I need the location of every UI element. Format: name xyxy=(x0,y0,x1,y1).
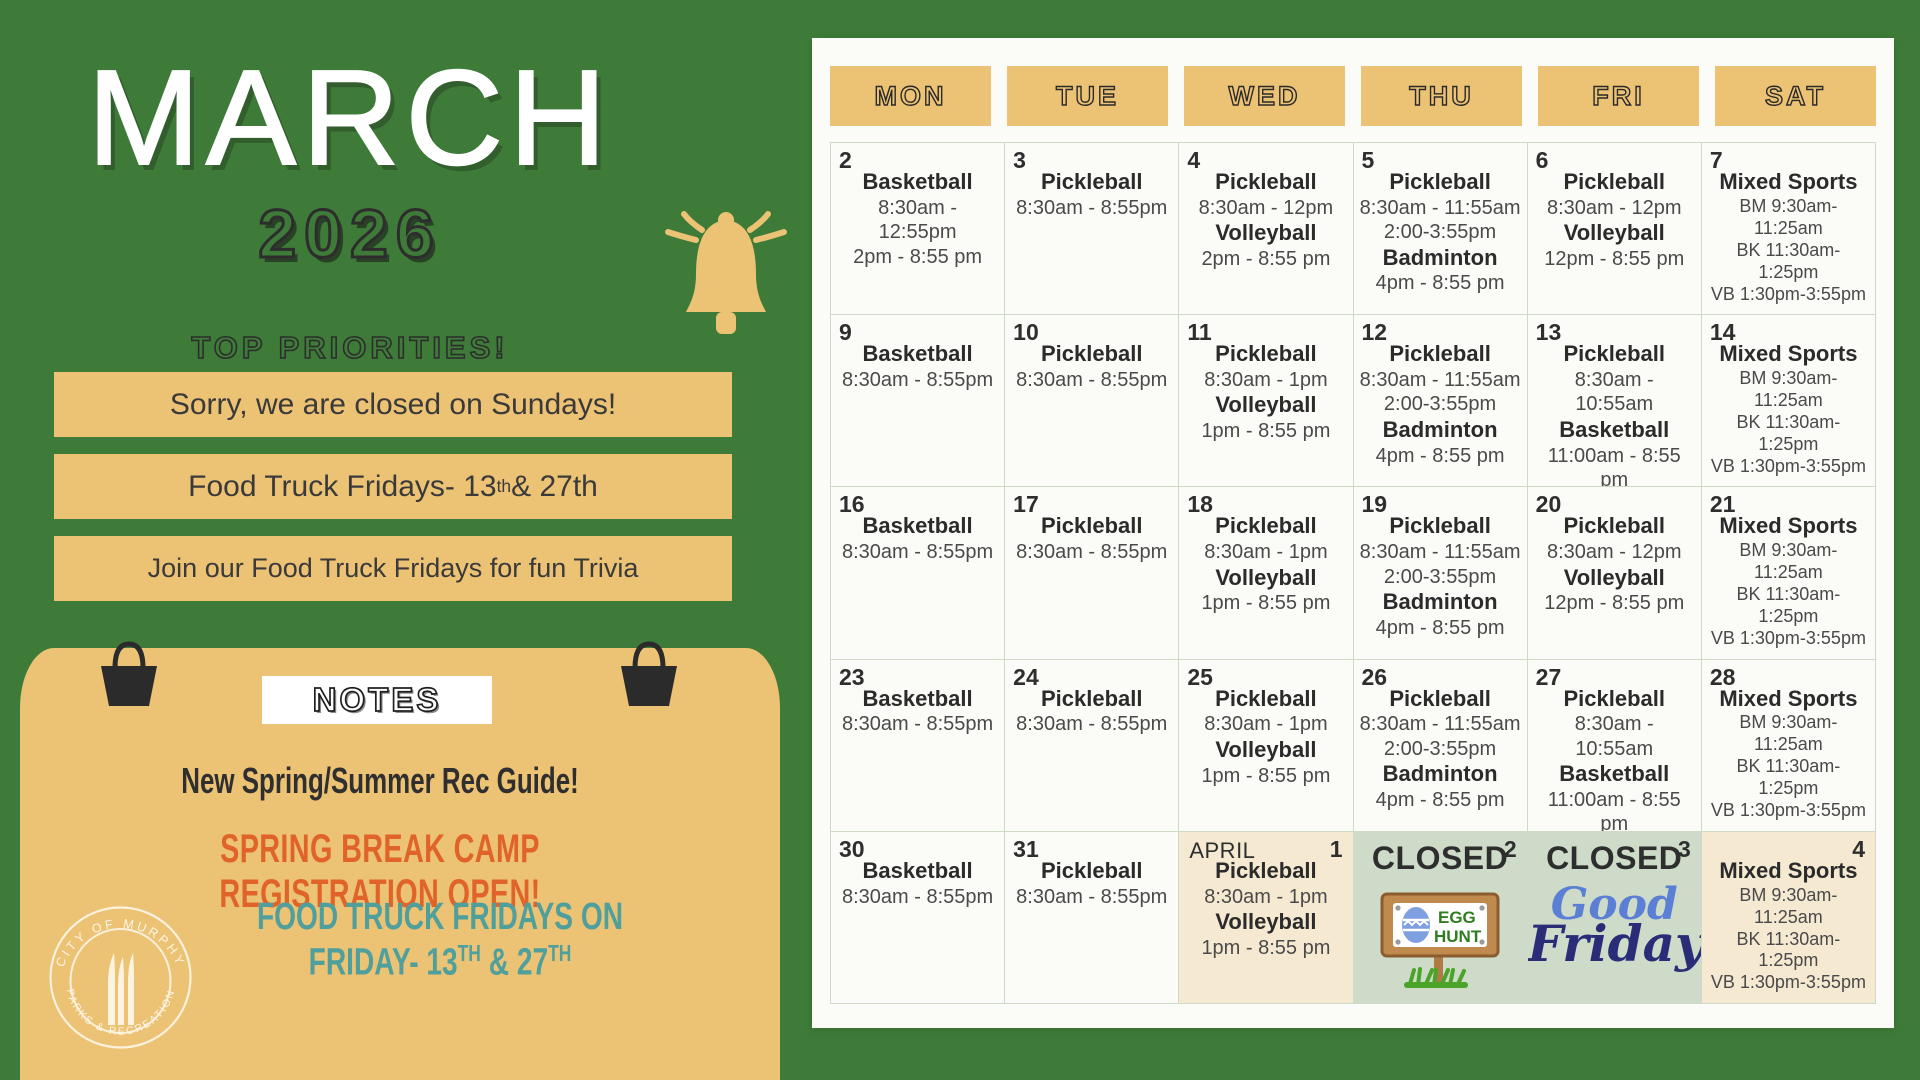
priority-item-3: Join our Food Truck Fridays for fun Triv… xyxy=(54,536,732,601)
day-number: 18 xyxy=(1187,493,1213,516)
event-time: 1pm - 8:55 pm xyxy=(1185,591,1346,615)
day-number: 27 xyxy=(1536,666,1562,689)
event-time: 4pm - 8:55 pm xyxy=(1360,271,1521,295)
event-title: Basketball xyxy=(1534,417,1695,444)
day-number: 1 xyxy=(1330,838,1343,861)
notes-title: NOTES xyxy=(262,676,492,724)
event-title: Pickleball xyxy=(1011,169,1172,196)
event-title: Pickleball xyxy=(1534,341,1695,368)
day-number: 28 xyxy=(1710,666,1736,689)
event-title: Basketball xyxy=(837,858,998,885)
event-time: 1pm - 8:55 pm xyxy=(1185,764,1346,788)
day-events: Pickleball8:30am - 11:55am2:00-3:55pmBad… xyxy=(1360,686,1521,813)
day-cell-4[interactable]: 4Mixed SportsBM 9:30am-11:25amBK 11:30am… xyxy=(1702,832,1876,1004)
closed-label: CLOSED xyxy=(1354,840,1527,877)
event-title: Pickleball xyxy=(1360,513,1521,540)
priority-item-3-text: Join our Food Truck Fridays for fun Triv… xyxy=(148,553,639,584)
event-time: 8:30am - 8:55pm xyxy=(837,368,998,392)
day-events: Pickleball8:30am - 10:55amBasketball11:0… xyxy=(1534,341,1695,487)
event-title: Mixed Sports xyxy=(1708,858,1869,885)
event-time: BK 11:30am-1:25pm xyxy=(1708,412,1869,456)
event-time: 2:00-3:55pm xyxy=(1360,220,1521,244)
event-time: 8:30am - 10:55am xyxy=(1534,368,1695,417)
day-cell-31[interactable]: 31Pickleball8:30am - 8:55pm xyxy=(1005,832,1179,1004)
event-time: BK 11:30am-1:25pm xyxy=(1708,929,1869,973)
day-cell-28[interactable]: 28Mixed SportsBM 9:30am-11:25amBK 11:30a… xyxy=(1702,660,1876,832)
day-cell-20[interactable]: 20Pickleball8:30am - 12pmVolleyball12pm … xyxy=(1528,487,1702,659)
event-title: Pickleball xyxy=(1011,513,1172,540)
day-events: Basketball8:30am - 8:55pm xyxy=(837,513,998,564)
day-events: Pickleball8:30am - 1pmVolleyball1pm - 8:… xyxy=(1185,513,1346,615)
top-priorities-label: TOP PRIORITIES! xyxy=(0,330,700,366)
event-title: Pickleball xyxy=(1360,341,1521,368)
event-time: 8:30am - 1pm xyxy=(1185,540,1346,564)
day-number: 7 xyxy=(1710,149,1723,172)
day-cell-2[interactable]: 2Basketball8:30am - 12:55pm2pm - 8:55 pm xyxy=(831,143,1005,315)
event-time: 4pm - 8:55 pm xyxy=(1360,444,1521,468)
event-time: 2pm - 8:55 pm xyxy=(1185,247,1346,271)
day-events: Pickleball8:30am - 11:55am2:00-3:55pmBad… xyxy=(1360,169,1521,296)
day-number: 9 xyxy=(839,321,852,344)
note-ftf-line2b: & 27 xyxy=(481,941,548,983)
event-time: 1pm - 8:55 pm xyxy=(1185,936,1346,960)
day-cell-1[interactable]: APRIL1Pickleball8:30am - 1pmVolleyball1p… xyxy=(1179,832,1353,1004)
event-title: Basketball xyxy=(837,686,998,713)
event-title: Mixed Sports xyxy=(1708,686,1869,713)
binder-clip-icon xyxy=(85,638,173,710)
day-number: 19 xyxy=(1362,493,1388,516)
event-title: Badminton xyxy=(1360,589,1521,616)
day-cell-7[interactable]: 7Mixed SportsBM 9:30am-11:25amBK 11:30am… xyxy=(1702,143,1876,315)
event-time: 8:30am - 1pm xyxy=(1185,885,1346,909)
day-number: 4 xyxy=(1852,838,1865,861)
day-cell-6[interactable]: 6Pickleball8:30am - 12pmVolleyball12pm -… xyxy=(1528,143,1702,315)
event-title: Basketball xyxy=(837,513,998,540)
egg-hunt-sign-icon: EGG HUNT xyxy=(1376,884,1504,996)
svg-text:HUNT: HUNT xyxy=(1434,927,1482,946)
day-cell-2[interactable]: 2CLOSED EGG HUNT xyxy=(1354,832,1528,1004)
left-info-panel: MARCH 2026 TOP PRIORITIES! Sorry, we are… xyxy=(0,0,810,1080)
day-events: Pickleball8:30am - 1pmVolleyball1pm - 8:… xyxy=(1185,341,1346,443)
event-time: VB 1:30pm-3:55pm xyxy=(1708,800,1869,822)
priority-item-2-sup: th xyxy=(497,476,512,497)
event-title: Mixed Sports xyxy=(1708,513,1869,540)
event-time: 1pm - 8:55 pm xyxy=(1185,419,1346,443)
day-number: 12 xyxy=(1362,321,1388,344)
day-events: Pickleball8:30am - 8:55pm xyxy=(1011,513,1172,564)
event-title: Pickleball xyxy=(1011,858,1172,885)
event-time: VB 1:30pm-3:55pm xyxy=(1708,456,1869,478)
event-time: 8:30am - 8:55pm xyxy=(837,712,998,736)
event-title: Badminton xyxy=(1360,761,1521,788)
event-time: BK 11:30am-1:25pm xyxy=(1708,240,1869,284)
day-cell-11[interactable]: 11Pickleball8:30am - 1pmVolleyball1pm - … xyxy=(1179,315,1353,487)
day-events: Pickleball8:30am - 8:55pm xyxy=(1011,169,1172,220)
priority-item-1-text: Sorry, we are closed on Sundays! xyxy=(170,388,616,422)
event-time: 8:30am - 10:55am xyxy=(1534,712,1695,761)
day-number: 16 xyxy=(839,493,865,516)
calendar-grid: 2Basketball8:30am - 12:55pm2pm - 8:55 pm… xyxy=(830,142,1876,1004)
event-time: 8:30am - 12pm xyxy=(1534,196,1695,220)
svg-text:EGG: EGG xyxy=(1438,908,1476,927)
event-time: 4pm - 8:55 pm xyxy=(1360,616,1521,640)
day-header-mon: MON xyxy=(830,66,991,126)
day-cell-9[interactable]: 9Basketball8:30am - 8:55pm xyxy=(831,315,1005,487)
event-time: BM 9:30am-11:25am xyxy=(1708,540,1869,584)
day-number: 26 xyxy=(1362,666,1388,689)
day-cell-4[interactable]: 4Pickleball8:30am - 12pmVolleyball2pm - … xyxy=(1179,143,1353,315)
note-ftf-line2a: FRIDAY- 13 xyxy=(309,941,458,983)
event-title: Volleyball xyxy=(1534,565,1695,592)
day-events: Pickleball8:30am - 12pmVolleyball12pm - … xyxy=(1534,513,1695,615)
day-number: 25 xyxy=(1187,666,1213,689)
day-events: Basketball8:30am - 8:55pm xyxy=(837,686,998,737)
day-of-week-header-row: MONTUEWEDTHUFRISAT xyxy=(830,66,1876,126)
event-time: VB 1:30pm-3:55pm xyxy=(1708,972,1869,994)
city-of-murphy-parks-recreation-logo: CITY OF MURPHY PARKS & RECREATION xyxy=(38,895,203,1060)
day-header-fri: FRI xyxy=(1538,66,1699,126)
day-number: 17 xyxy=(1013,493,1039,516)
event-title: Volleyball xyxy=(1185,909,1346,936)
event-title: Pickleball xyxy=(1185,513,1346,540)
day-number: 4 xyxy=(1187,149,1200,172)
day-cell-5[interactable]: 5Pickleball8:30am - 11:55am2:00-3:55pmBa… xyxy=(1354,143,1528,315)
event-time: BM 9:30am-11:25am xyxy=(1708,885,1869,929)
day-number: 2 xyxy=(839,149,852,172)
priority-item-2-suffix: & 27th xyxy=(511,470,598,504)
day-events: Pickleball8:30am - 8:55pm xyxy=(1011,858,1172,909)
event-time: 4pm - 8:55 pm xyxy=(1360,788,1521,812)
day-events: Pickleball8:30am - 8:55pm xyxy=(1011,341,1172,392)
bell-icon xyxy=(650,200,795,340)
event-time: 2:00-3:55pm xyxy=(1360,392,1521,416)
event-title: Pickleball xyxy=(1534,169,1695,196)
event-time: VB 1:30pm-3:55pm xyxy=(1708,628,1869,650)
closed-label: CLOSED xyxy=(1528,840,1701,877)
day-header-sat: SAT xyxy=(1715,66,1876,126)
event-time: 8:30am - 8:55pm xyxy=(837,540,998,564)
event-time: 8:30am - 8:55pm xyxy=(1011,196,1172,220)
event-time: 8:30am - 11:55am xyxy=(1360,196,1521,220)
day-events: Mixed SportsBM 9:30am-11:25amBK 11:30am-… xyxy=(1708,169,1869,306)
day-cell-13[interactable]: 13Pickleball8:30am - 10:55amBasketball11… xyxy=(1528,315,1702,487)
day-events: Basketball8:30am - 12:55pm2pm - 8:55 pm xyxy=(837,169,998,269)
priority-item-1: Sorry, we are closed on Sundays! xyxy=(54,372,732,437)
day-events: Pickleball8:30am - 8:55pm xyxy=(1011,686,1172,737)
page-title-month: MARCH xyxy=(0,50,700,185)
event-title: Badminton xyxy=(1360,245,1521,272)
day-cell-18[interactable]: 18Pickleball8:30am - 1pmVolleyball1pm - … xyxy=(1179,487,1353,659)
day-cell-26[interactable]: 26Pickleball8:30am - 11:55am2:00-3:55pmB… xyxy=(1354,660,1528,832)
day-cell-3[interactable]: 3Pickleball8:30am - 8:55pm xyxy=(1005,143,1179,315)
event-time: 2:00-3:55pm xyxy=(1360,737,1521,761)
event-time: 8:30am - 8:55pm xyxy=(1011,540,1172,564)
event-time: 12pm - 8:55 pm xyxy=(1534,591,1695,615)
event-title: Volleyball xyxy=(1185,220,1346,247)
event-title: Pickleball xyxy=(1534,686,1695,713)
event-time: 8:30am - 12pm xyxy=(1534,540,1695,564)
day-events: Mixed SportsBM 9:30am-11:25amBK 11:30am-… xyxy=(1708,341,1869,478)
event-title: Pickleball xyxy=(1011,686,1172,713)
day-cell-16[interactable]: 16Basketball8:30am - 8:55pm xyxy=(831,487,1005,659)
page-title-year: 2026 xyxy=(0,200,700,268)
day-cell-3[interactable]: 3CLOSEDGoodFriday xyxy=(1528,832,1702,1004)
day-events: Mixed SportsBM 9:30am-11:25amBK 11:30am-… xyxy=(1708,686,1869,823)
day-number: 5 xyxy=(1362,149,1375,172)
event-time: 8:30am - 8:55pm xyxy=(837,885,998,909)
month-label-april: APRIL xyxy=(1189,838,1255,864)
event-time: 2:00-3:55pm xyxy=(1360,565,1521,589)
day-events: Basketball8:30am - 8:55pm xyxy=(837,858,998,909)
event-title: Mixed Sports xyxy=(1708,169,1869,196)
event-time: 8:30am - 11:55am xyxy=(1360,712,1521,736)
day-cell-30[interactable]: 30Basketball8:30am - 8:55pm xyxy=(831,832,1005,1004)
day-cell-24[interactable]: 24Pickleball8:30am - 8:55pm xyxy=(1005,660,1179,832)
event-title: Pickleball xyxy=(1534,513,1695,540)
day-cell-27[interactable]: 27Pickleball8:30am - 10:55amBasketball11… xyxy=(1528,660,1702,832)
event-title: Volleyball xyxy=(1185,737,1346,764)
event-time: VB 1:30pm-3:55pm xyxy=(1708,284,1869,306)
event-time: 8:30am - 12:55pm xyxy=(837,196,998,245)
day-events: Mixed SportsBM 9:30am-11:25amBK 11:30am-… xyxy=(1708,513,1869,650)
event-title: Basketball xyxy=(837,341,998,368)
event-time: 8:30am - 1pm xyxy=(1185,712,1346,736)
event-title: Volleyball xyxy=(1185,565,1346,592)
note-rec-guide: New Spring/Summer Rec Guide! xyxy=(128,760,632,802)
event-time: BM 9:30am-11:25am xyxy=(1708,196,1869,240)
event-time: BK 11:30am-1:25pm xyxy=(1708,584,1869,628)
note-ftf-sup1: TH xyxy=(458,940,481,966)
calendar-card: MONTUEWEDTHUFRISAT 2Basketball8:30am - 1… xyxy=(812,38,1894,1028)
day-number: 24 xyxy=(1013,666,1039,689)
event-title: Pickleball xyxy=(1360,169,1521,196)
day-number: 31 xyxy=(1013,838,1039,861)
note-ftf-line1: FOOD TRUCK FRIDAYS ON xyxy=(257,896,623,938)
event-time: 2pm - 8:55 pm xyxy=(837,245,998,269)
event-time: 8:30am - 12pm xyxy=(1185,196,1346,220)
event-time: 8:30am - 1pm xyxy=(1185,368,1346,392)
event-title: Badminton xyxy=(1360,417,1521,444)
event-time: 8:30am - 11:55am xyxy=(1360,368,1521,392)
event-time: BM 9:30am-11:25am xyxy=(1708,368,1869,412)
day-number: 13 xyxy=(1536,321,1562,344)
event-time: 8:30am - 11:55am xyxy=(1360,540,1521,564)
note-food-truck-fridays: FOOD TRUCK FRIDAYS ON FRIDAY- 13TH & 27T… xyxy=(218,895,662,985)
day-number: 11 xyxy=(1187,321,1211,344)
day-events: Pickleball8:30am - 10:55amBasketball11:0… xyxy=(1534,686,1695,832)
priority-item-2-prefix: Food Truck Fridays- 13 xyxy=(188,470,496,504)
event-time: 11:00am - 8:55 pm xyxy=(1534,444,1695,488)
event-title: Pickleball xyxy=(1360,686,1521,713)
day-cell-25[interactable]: 25Pickleball8:30am - 1pmVolleyball1pm - … xyxy=(1179,660,1353,832)
day-events: Pickleball8:30am - 11:55am2:00-3:55pmBad… xyxy=(1360,513,1521,640)
good-friday-graphic: GoodFriday xyxy=(1528,886,1701,966)
event-title: Basketball xyxy=(837,169,998,196)
event-title: Pickleball xyxy=(1011,341,1172,368)
day-events: Basketball8:30am - 8:55pm xyxy=(837,341,998,392)
binder-clip-icon xyxy=(605,638,693,710)
good-friday-line-2: Friday xyxy=(1528,923,1701,966)
event-title: Pickleball xyxy=(1185,341,1346,368)
day-number: 23 xyxy=(839,666,865,689)
day-number: 3 xyxy=(1013,149,1026,172)
day-events: Pickleball8:30am - 1pmVolleyball1pm - 8:… xyxy=(1185,686,1346,788)
day-header-thu: THU xyxy=(1361,66,1522,126)
event-time: BM 9:30am-11:25am xyxy=(1708,712,1869,756)
day-cell-17[interactable]: 17Pickleball8:30am - 8:55pm xyxy=(1005,487,1179,659)
day-events: Pickleball8:30am - 12pmVolleyball12pm - … xyxy=(1534,169,1695,271)
day-cell-14[interactable]: 14Mixed SportsBM 9:30am-11:25amBK 11:30a… xyxy=(1702,315,1876,487)
day-header-wed: WED xyxy=(1184,66,1345,126)
day-cell-19[interactable]: 19Pickleball8:30am - 11:55am2:00-3:55pmB… xyxy=(1354,487,1528,659)
priority-item-2: Food Truck Fridays- 13th & 27th xyxy=(54,454,732,519)
day-number: 21 xyxy=(1710,493,1736,516)
event-title: Volleyball xyxy=(1534,220,1695,247)
day-cell-10[interactable]: 10Pickleball8:30am - 8:55pm xyxy=(1005,315,1179,487)
day-events: Pickleball8:30am - 12pmVolleyball2pm - 8… xyxy=(1185,169,1346,271)
event-time: 8:30am - 8:55pm xyxy=(1011,885,1172,909)
event-title: Pickleball xyxy=(1185,686,1346,713)
day-header-tue: TUE xyxy=(1007,66,1168,126)
event-title: Pickleball xyxy=(1185,169,1346,196)
day-cell-12[interactable]: 12Pickleball8:30am - 11:55am2:00-3:55pmB… xyxy=(1354,315,1528,487)
event-title: Mixed Sports xyxy=(1708,341,1869,368)
event-title: Volleyball xyxy=(1185,392,1346,419)
event-time: 12pm - 8:55 pm xyxy=(1534,247,1695,271)
day-number: 6 xyxy=(1536,149,1549,172)
day-number: 30 xyxy=(839,838,865,861)
event-time: BK 11:30am-1:25pm xyxy=(1708,756,1869,800)
day-events: Pickleball8:30am - 1pmVolleyball1pm - 8:… xyxy=(1185,858,1346,960)
day-events: Mixed SportsBM 9:30am-11:25amBK 11:30am-… xyxy=(1708,858,1869,995)
event-title: Basketball xyxy=(1534,761,1695,788)
day-number: 20 xyxy=(1536,493,1562,516)
event-time: 11:00am - 8:55 pm xyxy=(1534,788,1695,832)
event-time: 8:30am - 8:55pm xyxy=(1011,368,1172,392)
day-number: 14 xyxy=(1710,321,1736,344)
day-cell-21[interactable]: 21Mixed SportsBM 9:30am-11:25amBK 11:30a… xyxy=(1702,487,1876,659)
day-cell-23[interactable]: 23Basketball8:30am - 8:55pm xyxy=(831,660,1005,832)
note-ftf-sup2: TH xyxy=(548,940,571,966)
event-time: 8:30am - 8:55pm xyxy=(1011,712,1172,736)
day-events: Pickleball8:30am - 11:55am2:00-3:55pmBad… xyxy=(1360,341,1521,468)
day-number: 10 xyxy=(1013,321,1039,344)
